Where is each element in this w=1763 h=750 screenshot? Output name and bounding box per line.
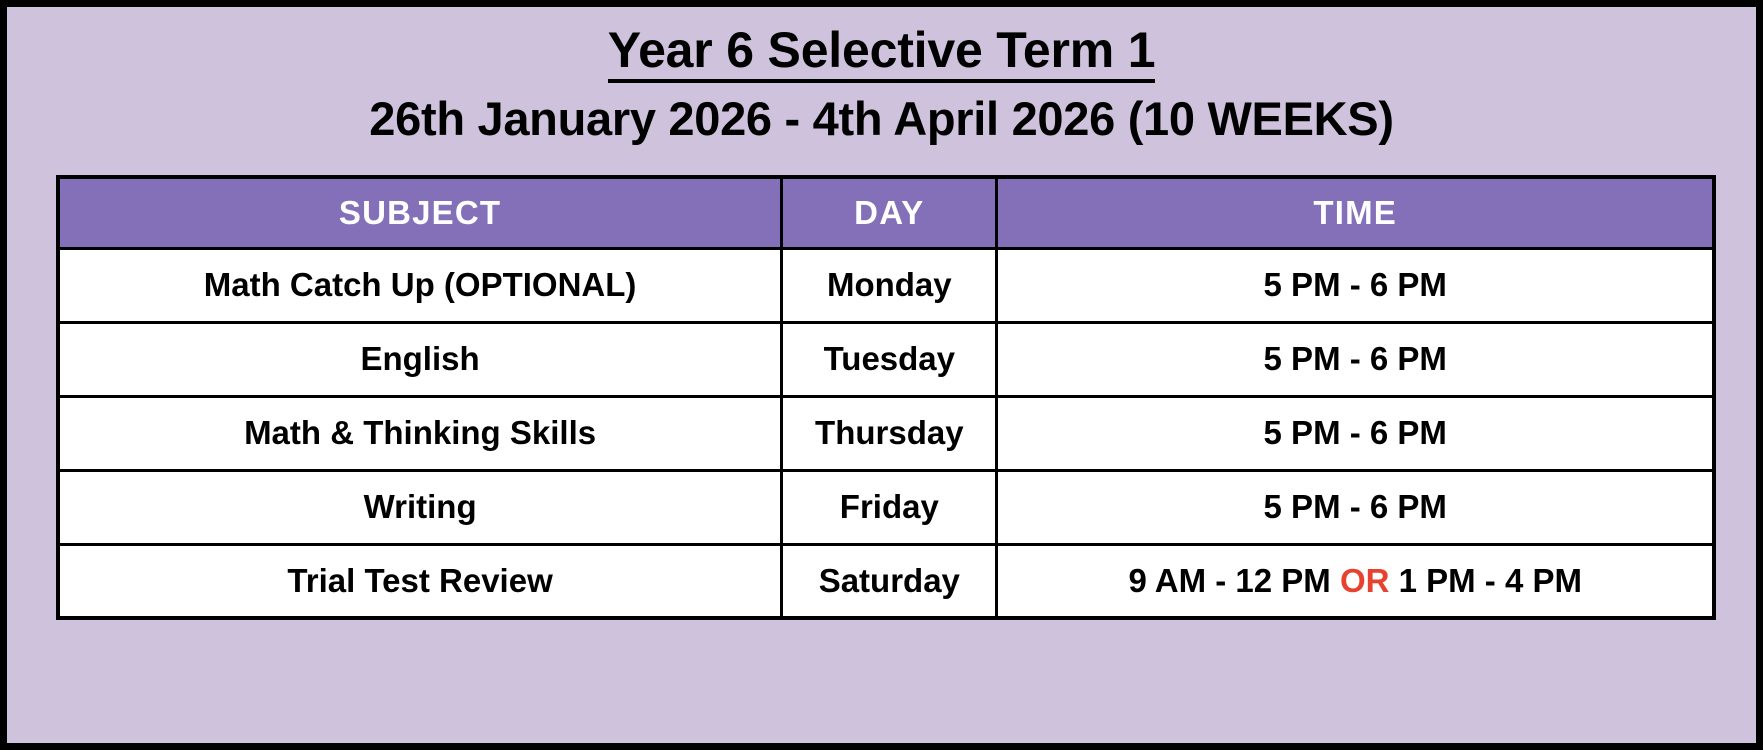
cell-subject: Trial Test Review [58, 544, 782, 618]
table-row: EnglishTuesday5 PM - 6 PM [58, 322, 1714, 396]
cell-time: 5 PM - 6 PM [997, 248, 1714, 322]
poster-title-block: Year 6 Selective Term 1 26th January 202… [7, 7, 1756, 145]
table-header-row: SUBJECT DAY TIME [58, 177, 1714, 248]
cell-time: 5 PM - 6 PM [997, 470, 1714, 544]
schedule-poster: Year 6 Selective Term 1 26th January 202… [0, 0, 1763, 750]
table-row: WritingFriday5 PM - 6 PM [58, 470, 1714, 544]
cell-subject: English [58, 322, 782, 396]
cell-day: Tuesday [782, 322, 997, 396]
cell-subject: Math & Thinking Skills [58, 396, 782, 470]
cell-day: Thursday [782, 396, 997, 470]
column-header-day: DAY [782, 177, 997, 248]
table-row: Trial Test ReviewSaturday9 AM - 12 PM OR… [58, 544, 1714, 618]
cell-subject: Writing [58, 470, 782, 544]
cell-time: 5 PM - 6 PM [997, 396, 1714, 470]
cell-day: Friday [782, 470, 997, 544]
cell-day: Monday [782, 248, 997, 322]
schedule-table: SUBJECT DAY TIME Math Catch Up (OPTIONAL… [56, 175, 1716, 620]
table-body: Math Catch Up (OPTIONAL)Monday5 PM - 6 P… [58, 248, 1714, 618]
schedule-table-wrapper: SUBJECT DAY TIME Math Catch Up (OPTIONAL… [56, 175, 1716, 620]
table-header: SUBJECT DAY TIME [58, 177, 1714, 248]
page-title: Year 6 Selective Term 1 [608, 23, 1156, 83]
cell-time: 9 AM - 12 PM OR 1 PM - 4 PM [997, 544, 1714, 618]
time-or-separator: OR [1340, 562, 1390, 599]
table-row: Math Catch Up (OPTIONAL)Monday5 PM - 6 P… [58, 248, 1714, 322]
column-header-subject: SUBJECT [58, 177, 782, 248]
cell-day: Saturday [782, 544, 997, 618]
column-header-time: TIME [997, 177, 1714, 248]
cell-time: 5 PM - 6 PM [997, 322, 1714, 396]
page-subtitle-date-range: 26th January 2026 - 4th April 2026 (10 W… [7, 94, 1756, 145]
cell-subject: Math Catch Up (OPTIONAL) [58, 248, 782, 322]
table-row: Math & Thinking SkillsThursday5 PM - 6 P… [58, 396, 1714, 470]
